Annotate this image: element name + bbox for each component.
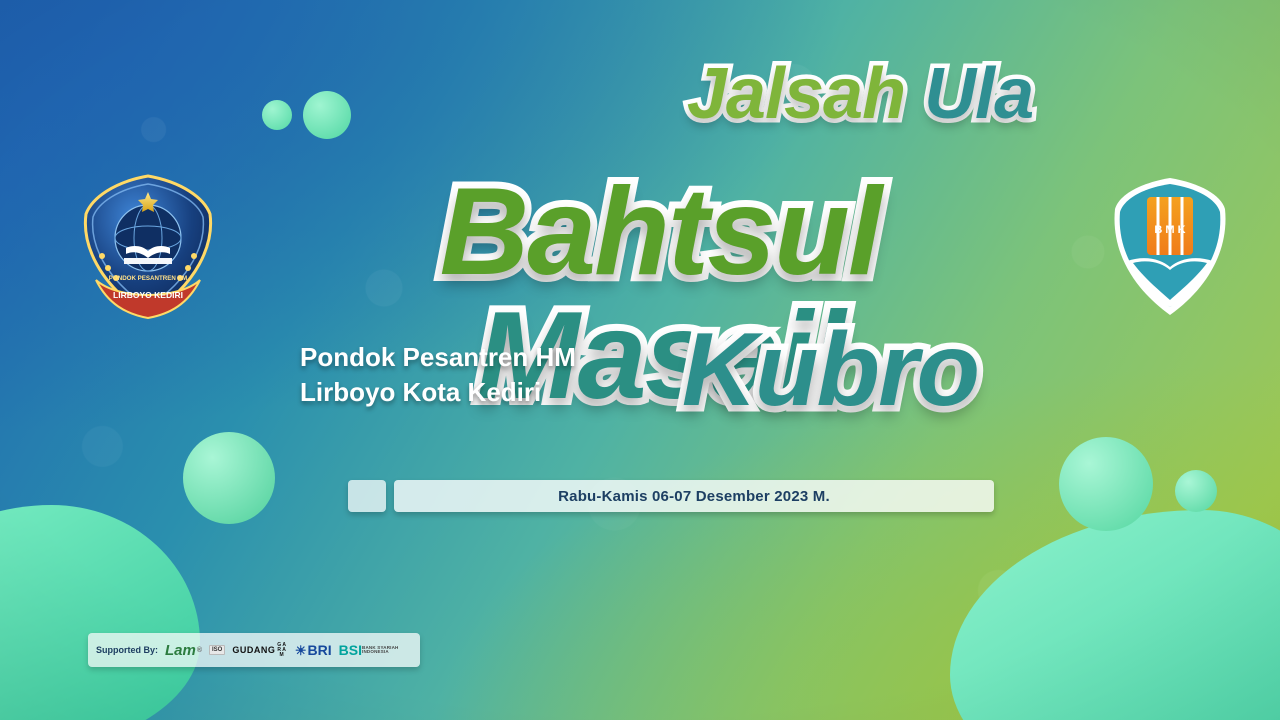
vignette-overlay: [0, 0, 1280, 720]
event-banner: LIRBOYO KEDIRI PONDOK PESANTREN HM B M K: [0, 0, 1280, 720]
